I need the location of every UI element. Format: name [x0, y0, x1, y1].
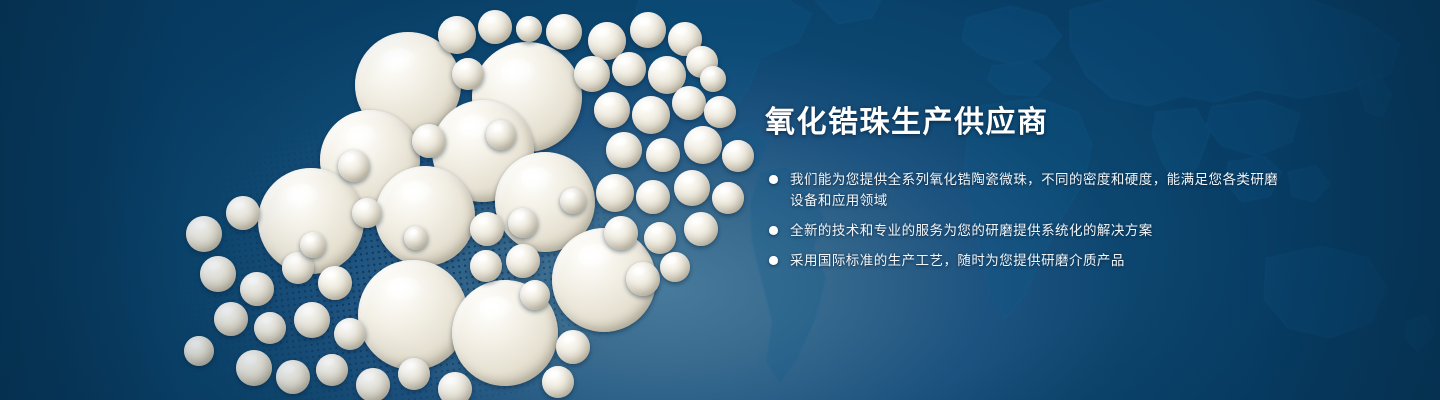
feature-list: 我们能为您提供全系列氧化锆陶瓷微珠，不同的密度和硬度，能满足您各类研磨设备和应用…: [765, 169, 1285, 271]
list-item-text: 我们能为您提供全系列氧化锆陶瓷微珠，不同的密度和硬度，能满足您各类研磨设备和应用…: [790, 172, 1278, 208]
list-item-text: 采用国际标准的生产工艺，随时为您提供研磨介质产品: [790, 253, 1125, 268]
list-item: 我们能为您提供全系列氧化锆陶瓷微珠，不同的密度和硬度，能满足您各类研磨设备和应用…: [765, 169, 1285, 211]
bullet-dot-icon: [769, 256, 778, 265]
bullet-dot-icon: [769, 226, 778, 235]
list-item: 采用国际标准的生产工艺，随时为您提供研磨介质产品: [765, 250, 1285, 271]
hero-banner: 氧化锆珠生产供应商 我们能为您提供全系列氧化锆陶瓷微珠，不同的密度和硬度，能满足…: [0, 0, 1440, 400]
banner-title: 氧化锆珠生产供应商: [765, 104, 1285, 142]
list-item-text: 全新的技术和专业的服务为您的研磨提供系统化的解决方案: [790, 223, 1153, 238]
banner-content: 氧化锆珠生产供应商 我们能为您提供全系列氧化锆陶瓷微珠，不同的密度和硬度，能满足…: [765, 104, 1285, 271]
bullet-dot-icon: [769, 175, 778, 184]
list-item: 全新的技术和专业的服务为您的研磨提供系统化的解决方案: [765, 220, 1285, 241]
